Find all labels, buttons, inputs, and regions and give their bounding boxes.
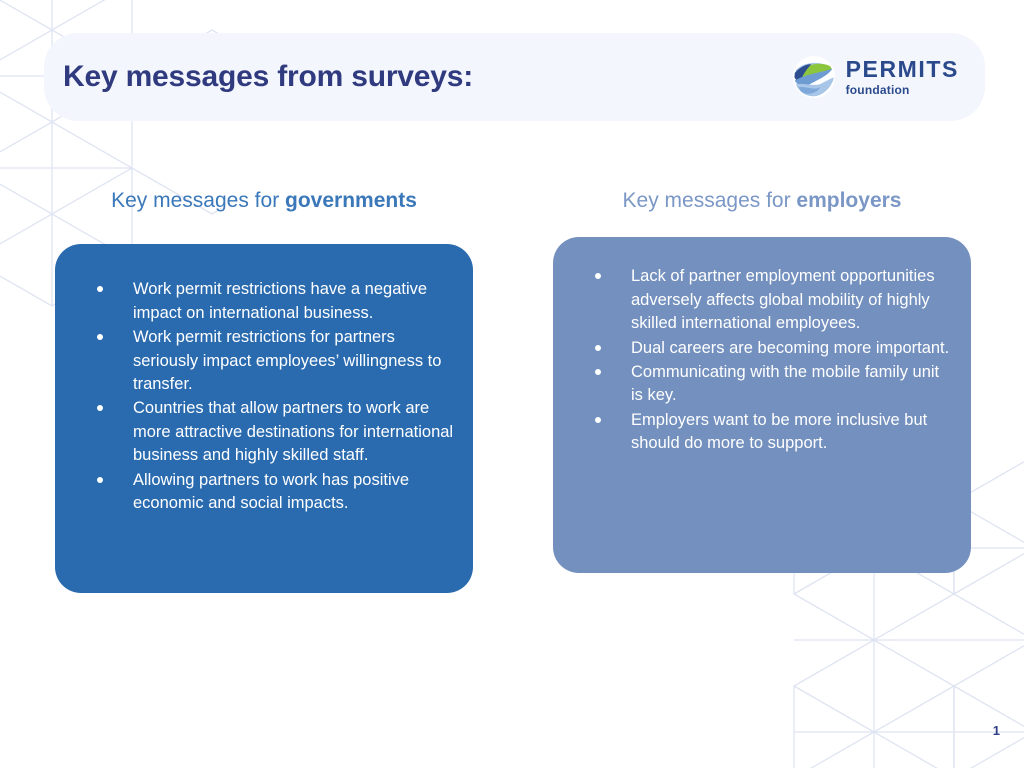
column-heading-employers: Key messages for employers [553, 188, 971, 214]
column-heading-prefix: Key messages for [111, 189, 285, 212]
page-number: 1 [993, 723, 1000, 738]
bullet-list-governments: Work permit restrictions have a negative… [77, 278, 455, 515]
logo-word-permits: PERMITS [846, 58, 959, 81]
slide-canvas: Key messages from surveys: [0, 0, 1024, 768]
slide-header-band: Key messages from surveys: [44, 33, 985, 121]
list-item: Work permit restrictions have a negative… [77, 278, 455, 325]
column-employers: Key messages for employers Lack of partn… [553, 188, 971, 573]
page-title: Key messages from surveys: [63, 60, 473, 94]
list-item: Allowing partners to work has positive e… [77, 469, 455, 516]
logo-word-foundation: foundation [846, 84, 959, 96]
column-heading-governments: Key messages for governments [55, 188, 473, 214]
column-heading-prefix: Key messages for [623, 189, 797, 212]
column-heading-keyword: governments [285, 189, 417, 212]
column-heading-keyword: employers [796, 189, 901, 212]
logo-wordmark: PERMITS foundation [846, 58, 959, 96]
bullet-list-employers: Lack of partner employment opportunities… [575, 265, 953, 455]
list-item: Communicating with the mobile family uni… [575, 361, 953, 408]
list-item: Lack of partner employment opportunities… [575, 265, 953, 335]
list-item: Dual careers are becoming more important… [575, 337, 953, 360]
list-item: Employers want to be more inclusive but … [575, 409, 953, 456]
message-box-governments: Work permit restrictions have a negative… [55, 244, 473, 593]
list-item: Countries that allow partners to work ar… [77, 397, 455, 467]
message-box-employers: Lack of partner employment opportunities… [553, 237, 971, 573]
column-governments: Key messages for governments Work permit… [55, 188, 473, 593]
globe-logo-icon [791, 54, 837, 100]
permits-foundation-logo: PERMITS foundation [791, 54, 963, 100]
list-item: Work permit restrictions for partners se… [77, 326, 455, 396]
